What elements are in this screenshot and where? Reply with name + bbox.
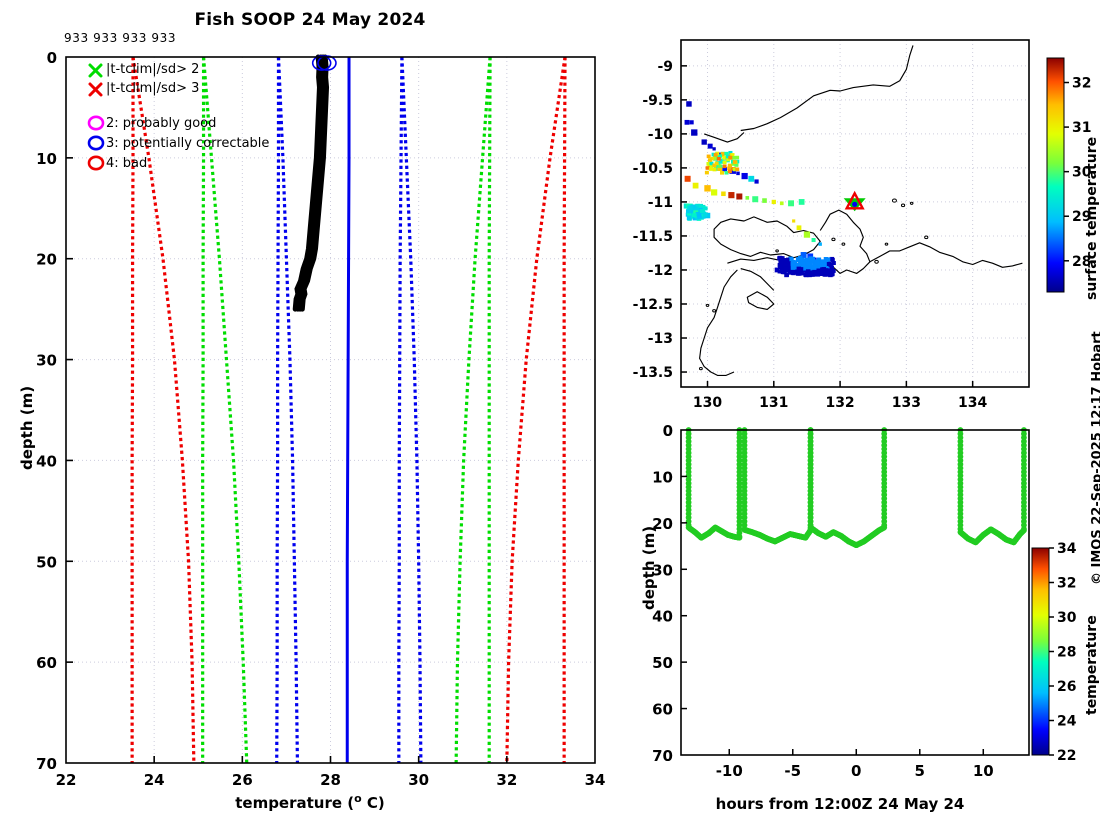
section-plot-area [681, 427, 1029, 755]
map-data-pixel [699, 204, 704, 208]
map-ytick-label: -9.5 [642, 93, 673, 109]
map-data-pixel [708, 158, 712, 162]
map-data-pixel [703, 213, 708, 217]
map-data-pixel [705, 171, 709, 175]
map-data-pixel [818, 242, 821, 245]
section-colorbar-tick-label: 24 [1057, 714, 1077, 730]
circle-icon [86, 133, 106, 153]
map-data-pixel [779, 260, 784, 264]
legend-row-flag4: 4: bad [86, 153, 346, 173]
map-data-pixel [735, 156, 739, 160]
profile-ytick-label: 0 [47, 49, 57, 67]
map-xtick-label: 132 [825, 395, 854, 411]
map-ytick-label: -10.5 [633, 161, 673, 177]
map-data-pixel [805, 261, 810, 265]
map-data-pixel [693, 183, 699, 189]
section-yaxis-label: depth (m) [640, 526, 658, 610]
section-data-point [881, 525, 887, 531]
profile-xtick-label: 26 [232, 771, 253, 789]
map-data-pixel [713, 147, 716, 150]
map-data-pixel [791, 261, 796, 265]
map-data-pixel [735, 168, 739, 172]
map-data-pixel [829, 270, 834, 274]
map-data-pixel [700, 209, 705, 213]
map-data-pixel [728, 192, 734, 198]
map-ytick-label: -13.5 [633, 365, 673, 381]
map-data-pixel [806, 269, 811, 273]
section-colorbar-tick-label: 26 [1057, 679, 1076, 695]
map-colorbar-tick-label: 32 [1072, 76, 1091, 92]
section-xaxis-label: hours from 12:00Z 24 May 24 [640, 795, 1040, 813]
section-panel: -10-5051001020304050607022242628303234 [620, 410, 1100, 820]
map-data-pixel [728, 164, 732, 168]
map-data-pixel [752, 196, 758, 202]
profile-xtick-label: 34 [585, 771, 606, 789]
legend-row-sd2: |t-tclim|/sd> 2 [86, 60, 346, 79]
section-xtick-label: -10 [716, 762, 743, 780]
map-data-pixel [788, 200, 794, 206]
map-data-pixel [828, 273, 833, 277]
profile-ytick-label: 50 [36, 553, 57, 571]
map-data-pixel [789, 257, 794, 261]
legend-label-flag4: 4: bad [106, 156, 147, 171]
map-data-pixel [690, 120, 694, 124]
map-data-pixel [704, 185, 710, 191]
map-plot-area [681, 40, 1029, 387]
map-data-pixel [702, 139, 707, 144]
map-data-pixel [780, 201, 784, 205]
profile-xtick-label: 30 [408, 771, 429, 789]
profile-legend: |t-tclim|/sd> 2 |t-tclim|/sd> 3 2: proba… [86, 60, 346, 173]
map-data-pixel [812, 266, 817, 270]
map-data-pixel [691, 129, 697, 135]
copyright-text: © IMOS 22-Sep-2025 12:17 Hobart [1090, 331, 1100, 585]
section-colorbar-tick-label: 30 [1057, 610, 1077, 626]
map-data-pixel [733, 160, 737, 164]
legend-label-flag3: 3: potentially correctable [106, 136, 269, 151]
legend-row-sd3: |t-tclim|/sd> 3 [86, 79, 346, 98]
map-xtick-label: 133 [892, 395, 921, 411]
section-xtick-label: 10 [973, 762, 994, 780]
map-panel: 130131132133134-9-9.5-10-10.5-11-11.5-12… [620, 0, 1100, 420]
map-data-pixel [799, 199, 805, 205]
profile-xtick-label: 24 [144, 771, 165, 789]
section-colorbar [1032, 548, 1049, 755]
map-ytick-label: -12 [648, 263, 673, 279]
profile-ytick-label: 70 [36, 755, 57, 773]
map-background [681, 40, 1029, 387]
map-data-pixel [785, 273, 790, 277]
section-ytick-label: 50 [652, 654, 673, 672]
profile-xtick-label: 32 [496, 771, 517, 789]
section-colorbar-tick-label: 28 [1057, 645, 1076, 661]
legend-row-flag2: 2: probably good [86, 113, 346, 133]
section-data-point [737, 535, 743, 541]
map-data-pixel [688, 206, 693, 210]
map-data-pixel [812, 238, 816, 242]
profile-ytick-label: 30 [36, 352, 57, 370]
map-data-pixel [804, 231, 810, 237]
section-ytick-label: 0 [663, 422, 673, 440]
map-ytick-label: -11 [648, 195, 673, 211]
map-colorbar-label: surface temperature [1084, 137, 1100, 300]
map-data-pixel [772, 200, 776, 204]
map-data-pixel [711, 189, 717, 195]
map-data-pixel [685, 120, 690, 125]
map-data-pixel [808, 256, 813, 260]
map-data-pixel [748, 176, 754, 182]
map-data-pixel [717, 157, 721, 161]
profile-ytick-label: 20 [36, 251, 57, 269]
map-data-pixel [762, 198, 767, 203]
map-ytick-label: -13 [648, 331, 673, 347]
map-xtick-label: 130 [693, 395, 722, 411]
section-data-point [1021, 527, 1027, 533]
map-ytick-label: -12.5 [633, 297, 673, 313]
map-data-pixel [713, 168, 717, 172]
section-ytick-label: 60 [652, 701, 673, 719]
map-data-pixel [687, 216, 692, 220]
map-data-pixel [826, 257, 831, 261]
legend-label-sd3: |t-tclim|/sd> 3 [106, 81, 199, 96]
map-data-pixel [709, 167, 713, 171]
map-data-pixel [720, 171, 724, 175]
x-cross-icon [86, 80, 106, 98]
map-data-pixel [745, 196, 749, 200]
section-background [681, 430, 1029, 755]
map-data-pixel [784, 266, 789, 270]
map-data-pixel [797, 267, 802, 271]
map-data-pixel [723, 165, 727, 169]
map-data-pixel [728, 170, 732, 174]
map-data-pixel [796, 263, 801, 267]
section-colorbar-tick-label: 22 [1057, 748, 1076, 764]
profile-ytick-label: 10 [36, 150, 57, 168]
map-colorbar [1047, 58, 1064, 292]
profile-xtick-label: 22 [56, 771, 77, 789]
map-data-pixel [815, 271, 820, 275]
map-colorbar-tick-label: 31 [1072, 120, 1091, 136]
circle-icon [86, 153, 106, 173]
map-data-pixel [686, 101, 691, 106]
map-data-pixel [798, 256, 803, 260]
map-data-pixel [736, 172, 740, 176]
section-ytick-label: 70 [652, 747, 673, 765]
map-ytick-label: -9 [657, 59, 673, 75]
map-data-pixel [797, 225, 802, 230]
legend-label-sd2: |t-tclim|/sd> 2 [106, 62, 199, 77]
map-data-pixel [736, 193, 742, 199]
station-marker-dot [852, 202, 857, 207]
map-data-pixel [828, 263, 833, 267]
map-data-pixel [708, 144, 713, 149]
map-data-pixel [754, 179, 758, 183]
map-data-pixel [783, 262, 788, 266]
map-data-pixel [714, 153, 718, 157]
map-ytick-label: -11.5 [633, 229, 673, 245]
section-colorbar-label: temperature [1084, 615, 1100, 715]
circle-icon [86, 113, 106, 133]
map-data-pixel [723, 161, 727, 165]
section-colorbar-tick-label: 32 [1057, 576, 1076, 592]
map-data-pixel [718, 167, 722, 171]
section-ytick-label: 10 [652, 468, 673, 486]
legend-label-flag2: 2: probably good [106, 116, 216, 131]
section-xtick-label: 0 [851, 762, 861, 780]
map-data-pixel [685, 176, 691, 182]
legend-row-flag3: 3: potentially correctable [86, 133, 346, 153]
map-xtick-label: 131 [759, 395, 788, 411]
map-data-pixel [697, 213, 702, 217]
profile-ytick-label: 60 [36, 654, 57, 672]
profile-yaxis-label: depth (m) [18, 386, 36, 470]
section-xtick-label: -5 [784, 762, 801, 780]
section-colorbar-tick-label: 34 [1057, 541, 1077, 557]
section-plot-svg[interactable]: -10-5051001020304050607022242628303234 [620, 410, 1100, 820]
figure-root: Fish SOOP 24 May 2024 933 933 933 933 22… [0, 0, 1100, 820]
map-data-pixel [715, 162, 719, 166]
section-xtick-label: 5 [915, 762, 925, 780]
map-data-pixel [742, 173, 748, 179]
map-xtick-label: 134 [958, 395, 987, 411]
map-data-pixel [796, 271, 801, 275]
legend-spacer [86, 98, 346, 113]
section-ytick-label: 40 [652, 608, 673, 626]
x-cross-icon [86, 61, 106, 79]
profile-xtick-label: 28 [320, 771, 341, 789]
map-data-pixel [791, 271, 796, 275]
profile-xaxis-label-text: temperature (o C) [235, 794, 385, 812]
map-data-pixel [792, 219, 795, 222]
profile-xaxis-label: temperature (o C) [0, 792, 620, 812]
profile-series [347, 57, 349, 763]
map-plot-svg[interactable]: 130131132133134-9-9.5-10-10.5-11-11.5-12… [620, 0, 1100, 420]
map-ytick-label: -10 [648, 127, 674, 143]
map-data-pixel [811, 273, 816, 277]
profile-ytick-label: 40 [36, 452, 57, 470]
map-data-pixel [821, 263, 826, 267]
map-data-pixel [778, 269, 783, 273]
map-data-pixel [728, 156, 732, 160]
map-data-pixel [791, 266, 796, 270]
map-data-pixel [721, 191, 726, 196]
map-data-pixel [692, 213, 697, 217]
